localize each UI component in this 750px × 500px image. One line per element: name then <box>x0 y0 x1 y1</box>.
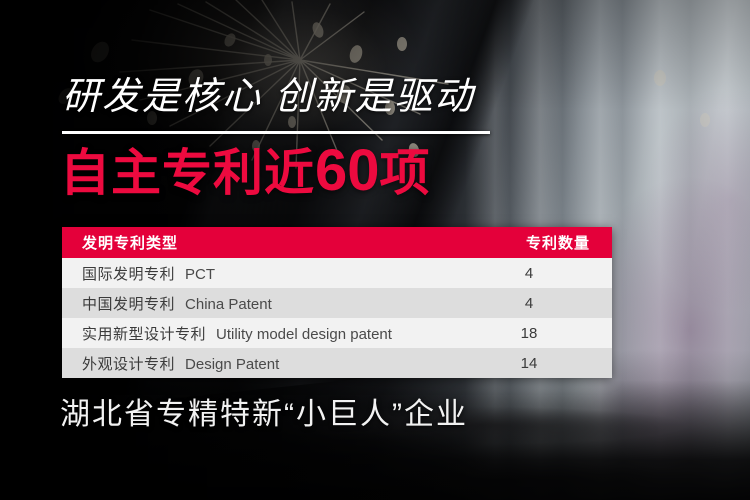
headline-divider <box>62 131 490 134</box>
poster-content: 研发是核心 创新是驱动 自主专利近60项 发明专利类型 专利数量 国际发明专利P… <box>0 0 750 500</box>
headline-accent-number: 60 <box>315 138 380 203</box>
headline-primary: 研发是核心 创新是驱动 <box>62 78 475 116</box>
patent-poster: 研发是核心 创新是驱动 自主专利近60项 发明专利类型 专利数量 国际发明专利P… <box>0 0 750 500</box>
patent-table-body: 国际发明专利PCT 4 中国发明专利China Patent 4 实用新型设计专… <box>62 258 612 378</box>
patent-type-en: China Patent <box>185 296 272 313</box>
headline-accent: 自主专利近60项 <box>60 142 431 200</box>
cell-patent-type: 中国发明专利China Patent <box>62 288 480 318</box>
footer-caption: 湖北省专精特新“小巨人”企业 <box>60 400 468 430</box>
patent-type-cn: 国际发明专利 <box>82 266 175 283</box>
cell-patent-count: 14 <box>480 348 612 378</box>
patent-type-cn: 实用新型设计专利 <box>82 326 206 343</box>
patent-type-cn: 外观设计专利 <box>82 356 175 373</box>
headline-accent-suffix: 项 <box>380 145 431 201</box>
cell-patent-type: 实用新型设计专利Utility model design patent <box>62 318 480 348</box>
cell-patent-count: 4 <box>480 258 612 288</box>
table-row: 国际发明专利PCT 4 <box>62 258 612 288</box>
cell-patent-count: 4 <box>480 288 612 318</box>
patent-type-en: PCT <box>185 266 215 283</box>
patent-type-en: Utility model design patent <box>216 326 392 343</box>
table-row: 中国发明专利China Patent 4 <box>62 288 612 318</box>
column-header-type: 发明专利类型 <box>62 227 480 258</box>
cell-patent-count: 18 <box>480 318 612 348</box>
column-header-count: 专利数量 <box>480 227 612 258</box>
table-row: 外观设计专利Design Patent 14 <box>62 348 612 378</box>
headline-accent-prefix: 自主专利近 <box>60 145 315 201</box>
cell-patent-type: 国际发明专利PCT <box>62 258 480 288</box>
patent-table: 发明专利类型 专利数量 国际发明专利PCT 4 中国发明专利China Pate… <box>62 227 612 378</box>
cell-patent-type: 外观设计专利Design Patent <box>62 348 480 378</box>
patent-type-cn: 中国发明专利 <box>82 296 175 313</box>
table-header-row: 发明专利类型 专利数量 <box>62 227 612 258</box>
patent-type-en: Design Patent <box>185 356 279 373</box>
patent-table-head: 发明专利类型 专利数量 <box>62 227 612 258</box>
table-row: 实用新型设计专利Utility model design patent 18 <box>62 318 612 348</box>
